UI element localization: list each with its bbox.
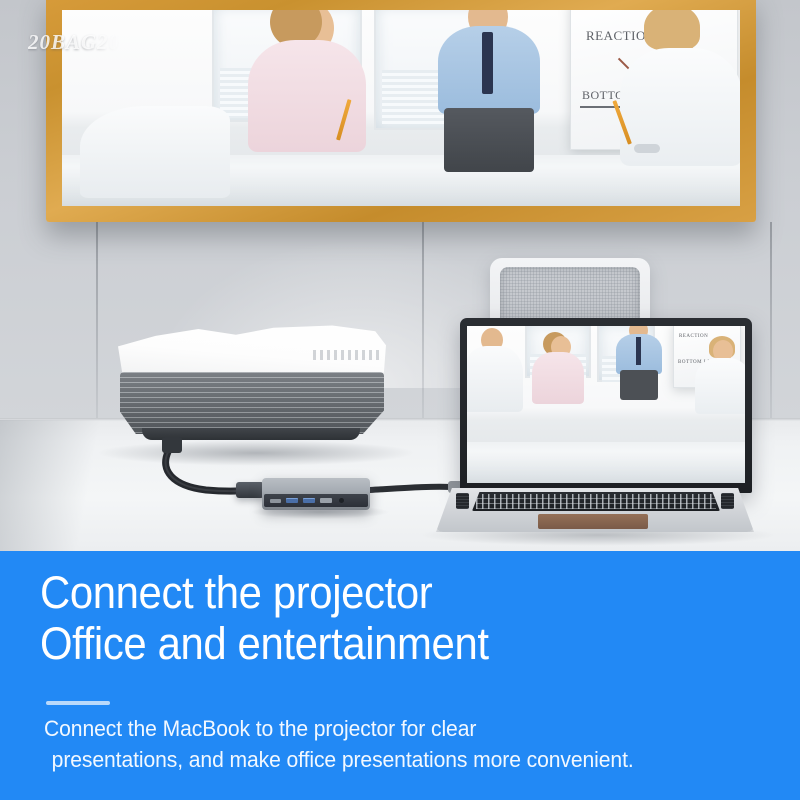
laptop-screen[interactable]: REACTION BOTTOM LINE: [467, 326, 745, 483]
screen-right-shirt: [695, 358, 745, 414]
laptop-lid: REACTION BOTTOM LINE: [460, 318, 752, 493]
power-port[interactable]: [339, 498, 344, 503]
laptop-speaker-right: [721, 493, 734, 509]
keyboard-keys: [476, 494, 716, 509]
projector-cable-plug: [162, 437, 182, 453]
hub-port-row: [264, 494, 368, 507]
laptop-speaker-left: [456, 493, 469, 509]
laptop-keyboard[interactable]: [472, 492, 720, 511]
product-scene: REACTION BOTTOM LINE: [0, 0, 800, 551]
usb-a-port[interactable]: [320, 498, 332, 503]
screen-person-left: [467, 328, 525, 414]
headline-line-2: Office and entertainment: [40, 618, 710, 669]
product-banner: REACTION BOTTOM LINE: [0, 0, 800, 800]
hub-input-connector: [236, 482, 264, 498]
laptop-trackpad[interactable]: [538, 514, 648, 529]
meeting-photo-screen: REACTION BOTTOM LINE: [467, 326, 745, 483]
screen-left-shirt: [467, 346, 523, 412]
screen-presenter-trousers: [620, 370, 658, 400]
subcopy-line-1: Connect the MacBook to the projector for…: [44, 716, 476, 741]
hdmi-port[interactable]: [270, 499, 281, 503]
screen-pink-shirt: [532, 352, 584, 404]
banner-subcopy: Connect the MacBook to the projector for…: [44, 713, 745, 775]
screen-presenter-tie: [636, 337, 641, 365]
promo-banner: Connect the projector Office and enterta…: [0, 551, 800, 800]
screen-person-pink: [529, 332, 585, 410]
banner-divider: [46, 701, 110, 705]
screen-person-right: [695, 338, 745, 416]
laptop: REACTION BOTTOM LINE: [436, 318, 754, 533]
subcopy-line-2: presentations, and make office presentat…: [44, 744, 745, 775]
watermark-text: 20BAG20: [28, 30, 120, 55]
usb3-port-2[interactable]: [303, 498, 315, 503]
screen-table: [467, 442, 745, 483]
usb3-port-1[interactable]: [286, 498, 298, 503]
banner-headline: Connect the projector Office and enterta…: [40, 567, 710, 670]
screen-person-presenter: [615, 326, 663, 396]
usb-c-hub[interactable]: [262, 478, 370, 510]
headline-line-1: Connect the projector: [40, 567, 710, 618]
